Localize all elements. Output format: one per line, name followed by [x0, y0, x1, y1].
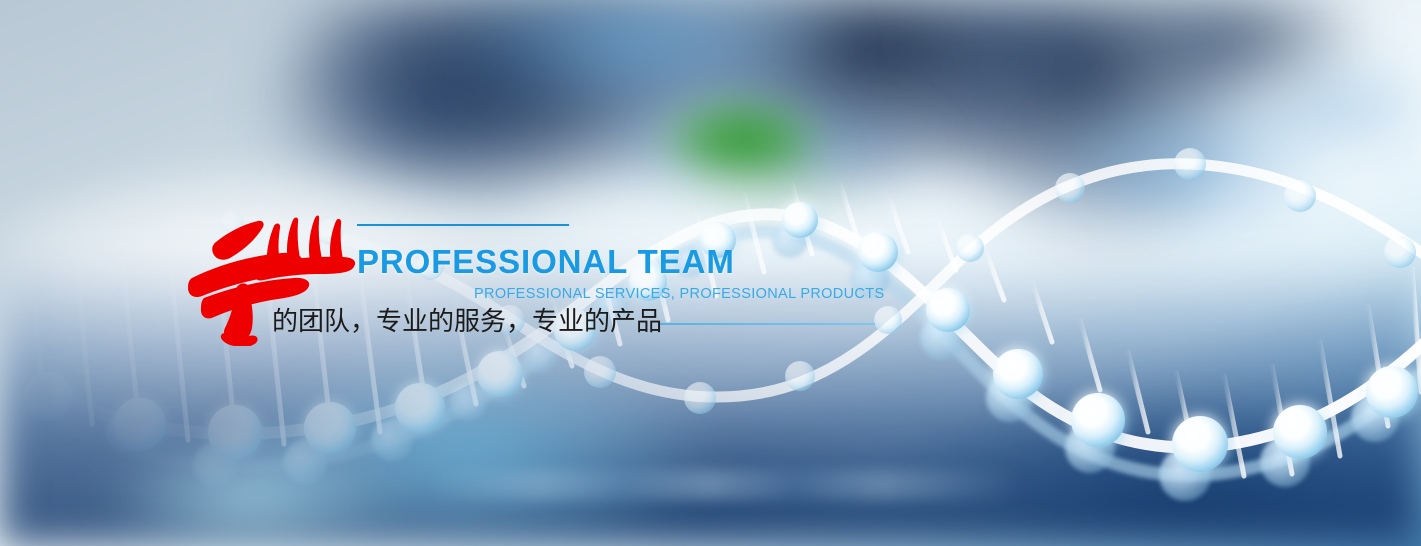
decorative-rule-top [357, 224, 569, 226]
tagline-chinese: 的团队，专业的服务，专业的产品 [272, 305, 662, 339]
decorative-rule-bottom [660, 323, 875, 325]
headline-professional-team: PROFESSIONAL TEAM [357, 243, 735, 281]
banner-content: PROFESSIONAL TEAM PROFESSIONAL SERVICES,… [0, 0, 1421, 546]
hero-banner: PROFESSIONAL TEAM PROFESSIONAL SERVICES,… [0, 0, 1421, 546]
subheadline-services-products: PROFESSIONAL SERVICES, PROFESSIONAL PROD… [474, 285, 884, 303]
